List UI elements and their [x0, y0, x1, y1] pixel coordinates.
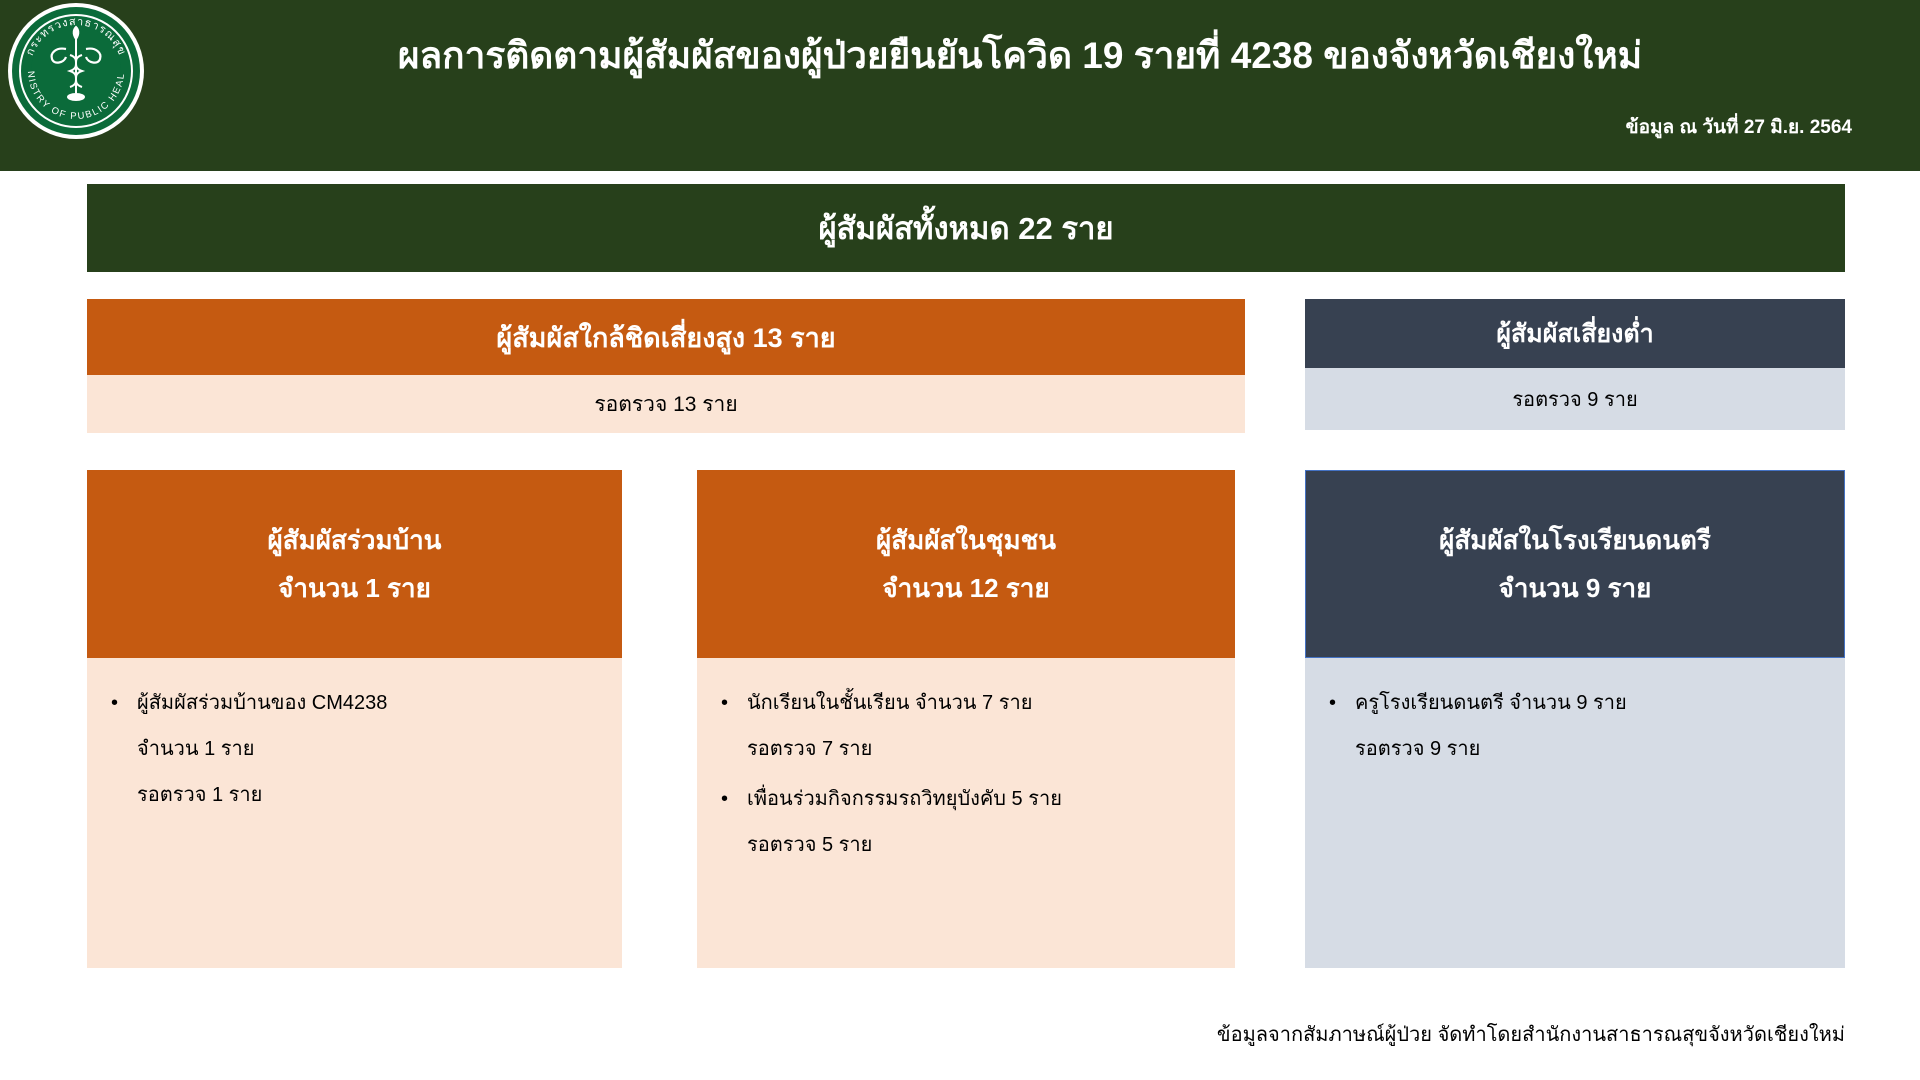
household-bullet-list: • ผู้สัมผัสร่วมบ้านของ CM4238 จำนวน 1 รา…: [101, 680, 608, 818]
list-item: • ผู้สัมผัสร่วมบ้านของ CM4238 จำนวน 1 รา…: [101, 680, 608, 818]
low-risk-header: ผู้สัมผัสเสี่ยงต่ำ: [1305, 299, 1845, 368]
card-community-body: • นักเรียนในชั้นเรียน จำนวน 7 ราย รอตรวจ…: [697, 658, 1235, 968]
high-risk-pending: รอตรวจ 13 ราย: [87, 375, 1245, 433]
list-item-line2: จำนวน 1 ราย: [137, 726, 608, 772]
card-music-school-header: ผู้สัมผัสในโรงเรียนดนตรี จำนวน 9 ราย: [1305, 470, 1845, 658]
bullet-icon: •: [721, 680, 728, 726]
total-contacts-banner: ผู้สัมผัสทั้งหมด 22 ราย: [87, 184, 1845, 272]
bullet-icon: •: [1329, 680, 1336, 726]
ministry-seal-logo: กระทรวงสาธารณสุข MINISTRY OF PUBLIC HEAL…: [8, 3, 144, 139]
list-item-line3: รอตรวจ 1 ราย: [137, 772, 608, 818]
music-school-bullet-list: • ครูโรงเรียนดนตรี จำนวน 9 ราย รอตรวจ 9 …: [1319, 680, 1831, 772]
list-item: • เพื่อนร่วมกิจกรรมรถวิทยุบังคับ 5 ราย ร…: [711, 776, 1221, 868]
low-risk-title: ผู้สัมผัสเสี่ยงต่ำ: [1496, 314, 1653, 354]
total-contacts-label: ผู้สัมผัสทั้งหมด 22 ราย: [818, 203, 1113, 253]
low-risk-pending: รอตรวจ 9 ราย: [1305, 368, 1845, 430]
card-household-title: ผู้สัมผัสร่วมบ้าน: [268, 516, 442, 564]
high-risk-header: ผู้สัมผัสใกล้ชิดเสี่ยงสูง 13 ราย: [87, 299, 1245, 375]
card-community-count: จำนวน 12 ราย: [882, 564, 1049, 612]
list-item-line2: รอตรวจ 5 ราย: [747, 822, 1221, 868]
data-as-of-date: ข้อมูล ณ วันที่ 27 มิ.ย. 2564: [1626, 112, 1852, 142]
card-music-school-count: จำนวน 9 ราย: [1499, 564, 1652, 612]
list-item: • ครูโรงเรียนดนตรี จำนวน 9 ราย รอตรวจ 9 …: [1319, 680, 1831, 772]
page-header: กระทรวงสาธารณสุข MINISTRY OF PUBLIC HEAL…: [0, 0, 1920, 171]
list-item-text: นักเรียนในชั้นเรียน จำนวน 7 ราย: [747, 680, 1221, 726]
community-bullet-list: • นักเรียนในชั้นเรียน จำนวน 7 ราย รอตรวจ…: [711, 680, 1221, 868]
list-item-text: เพื่อนร่วมกิจกรรมรถวิทยุบังคับ 5 ราย: [747, 776, 1221, 822]
card-music-school-contacts: ผู้สัมผัสในโรงเรียนดนตรี จำนวน 9 ราย • ค…: [1305, 470, 1845, 968]
card-household-contacts: ผู้สัมผัสร่วมบ้าน จำนวน 1 ราย • ผู้สัมผั…: [87, 470, 622, 968]
card-music-school-body: • ครูโรงเรียนดนตรี จำนวน 9 ราย รอตรวจ 9 …: [1305, 658, 1845, 968]
bullet-icon: •: [721, 776, 728, 822]
card-community-header: ผู้สัมผัสในชุมชน จำนวน 12 ราย: [697, 470, 1235, 658]
card-community-title: ผู้สัมผัสในชุมชน: [876, 516, 1056, 564]
footer-source-note: ข้อมูลจากสัมภาษณ์ผู้ป่วย จัดทำโดยสำนักงา…: [1217, 1018, 1845, 1050]
ministry-seal-icon: กระทรวงสาธารณสุข MINISTRY OF PUBLIC HEAL…: [8, 3, 144, 139]
page-title: ผลการติดตามผู้สัมผัสของผู้ป่วยยืนยันโควิ…: [150, 30, 1890, 82]
list-item-text: ผู้สัมผัสร่วมบ้านของ CM4238: [137, 680, 608, 726]
low-risk-pending-label: รอตรวจ 9 ราย: [1512, 383, 1637, 415]
high-risk-pending-label: รอตรวจ 13 ราย: [594, 388, 737, 421]
card-household-header: ผู้สัมผัสร่วมบ้าน จำนวน 1 ราย: [87, 470, 622, 658]
list-item: • นักเรียนในชั้นเรียน จำนวน 7 ราย รอตรวจ…: [711, 680, 1221, 772]
list-item-line2: รอตรวจ 9 ราย: [1355, 726, 1831, 772]
card-music-school-title: ผู้สัมผัสในโรงเรียนดนตรี: [1439, 516, 1711, 564]
card-community-contacts: ผู้สัมผัสในชุมชน จำนวน 12 ราย • นักเรียน…: [697, 470, 1235, 968]
list-item-line2: รอตรวจ 7 ราย: [747, 726, 1221, 772]
bullet-icon: •: [111, 680, 118, 726]
high-risk-title: ผู้สัมผัสใกล้ชิดเสี่ยงสูง 13 ราย: [496, 316, 835, 359]
card-household-body: • ผู้สัมผัสร่วมบ้านของ CM4238 จำนวน 1 รา…: [87, 658, 622, 968]
list-item-text: ครูโรงเรียนดนตรี จำนวน 9 ราย: [1355, 680, 1831, 726]
card-household-count: จำนวน 1 ราย: [278, 564, 431, 612]
